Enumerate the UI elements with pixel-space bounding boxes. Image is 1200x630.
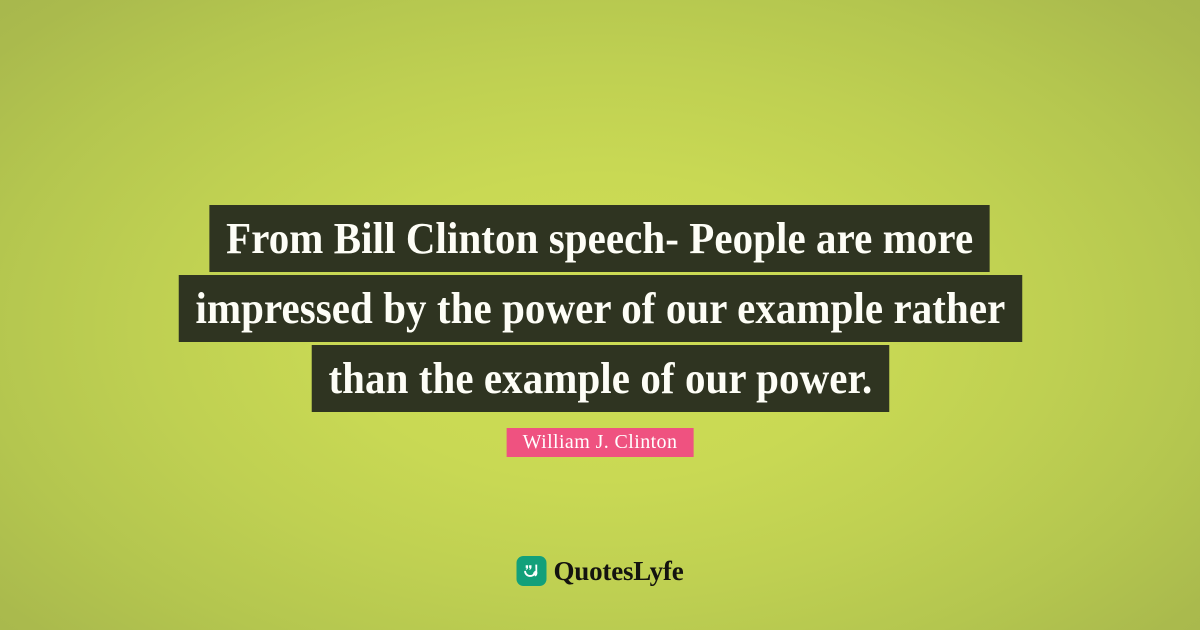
quote-image-canvas: From Bill Clinton speech- People are mor… — [0, 0, 1200, 630]
quote-line: From Bill Clinton speech- People are mor… — [210, 205, 991, 272]
quote-text-block: From Bill Clinton speech- People are mor… — [0, 205, 1200, 412]
quote-line: impressed by the power of our example ra… — [178, 275, 1021, 342]
author-attribution-badge: William J. Clinton — [507, 428, 694, 457]
brand-logo[interactable]: QuotesLyfe — [517, 556, 684, 586]
quote-smiley-icon — [517, 556, 547, 586]
brand-name: QuotesLyfe — [554, 556, 684, 586]
quote-line: than the example of our power. — [311, 345, 888, 412]
